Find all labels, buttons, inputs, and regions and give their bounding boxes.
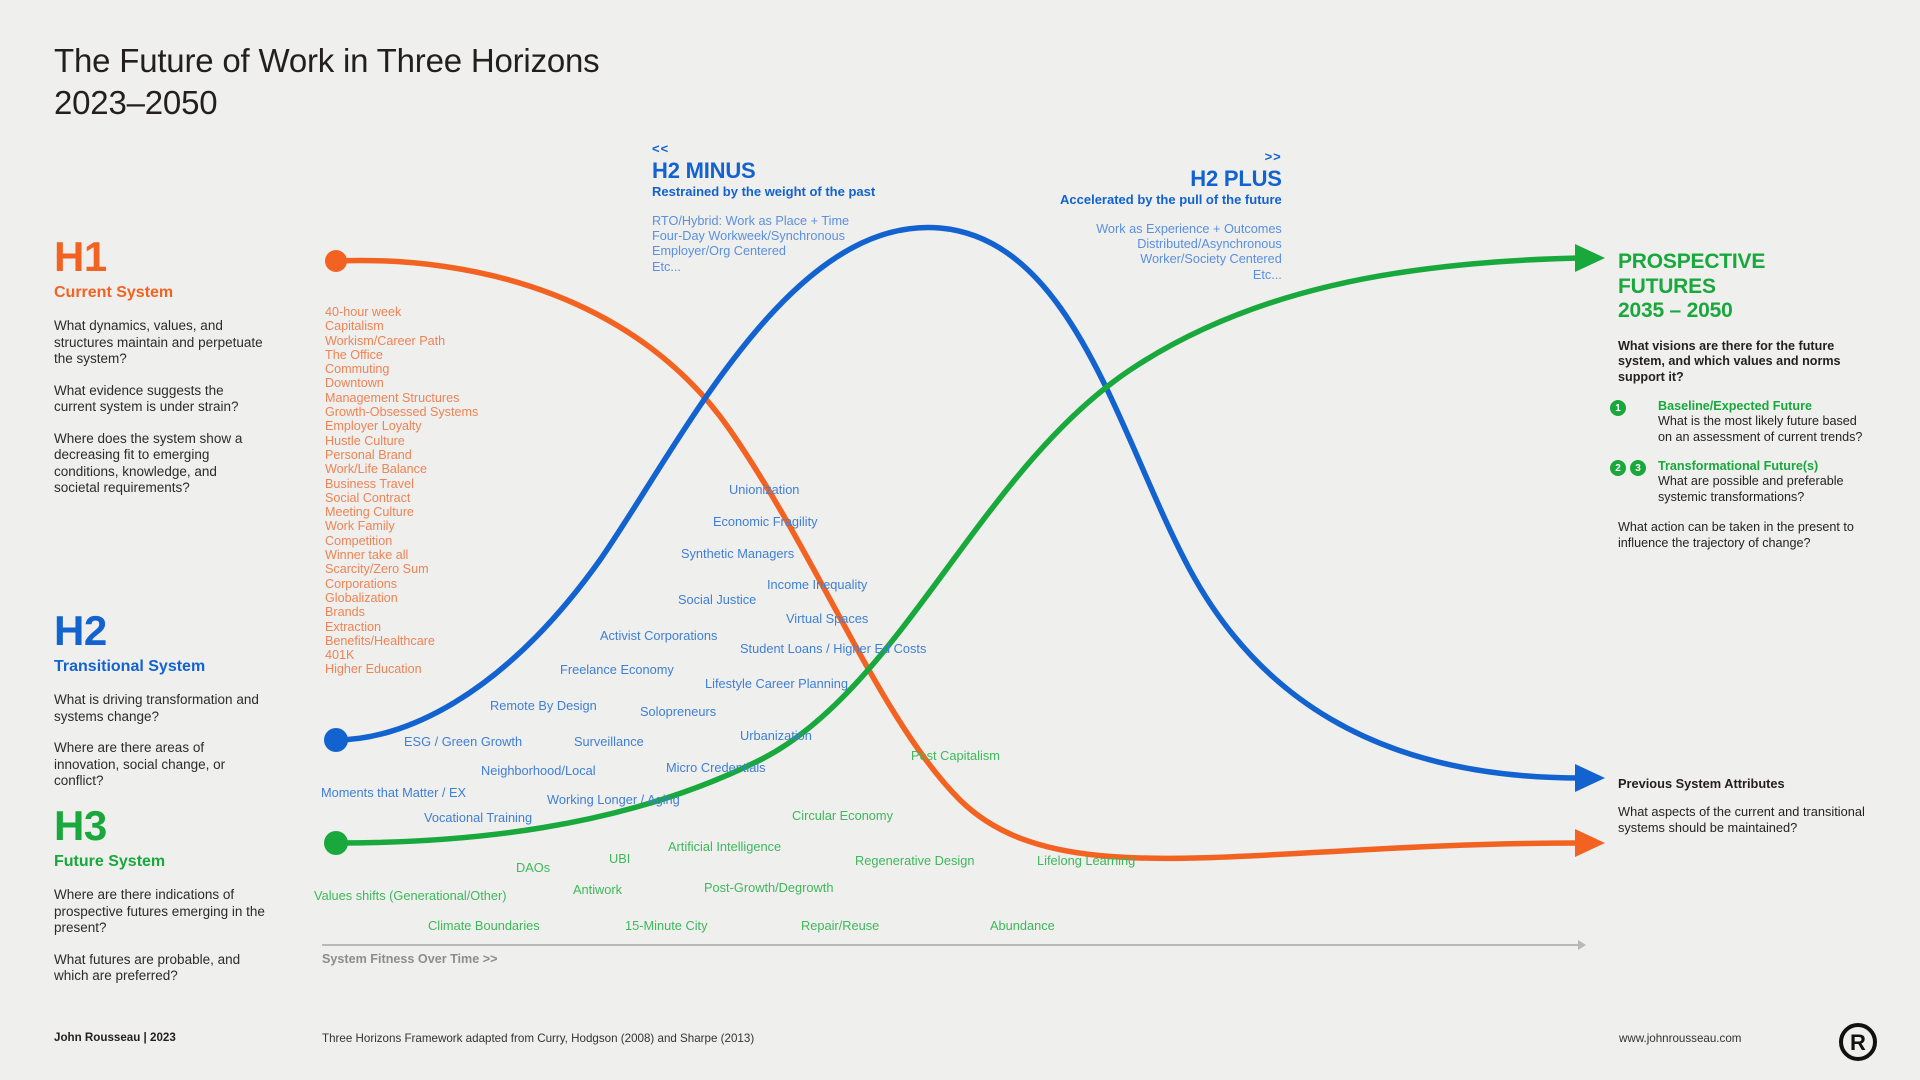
previous-attributes-heading: Previous System Attributes: [1618, 776, 1873, 792]
h3-tag-2: Artificial Intelligence: [668, 840, 781, 854]
h2-tag-1: Economic Fragility: [713, 515, 818, 529]
h2-tag-7: Student Loans / Higher Ed Costs: [740, 642, 926, 656]
h3-subtitle: Future System: [54, 852, 266, 872]
prospective-futures-title: PROSPECTIVE FUTURES 2035 – 2050: [1618, 250, 1864, 324]
registered-trademark-icon: R: [1838, 1022, 1878, 1062]
h1-start-dot: [325, 250, 347, 272]
horizon-block-h2: H2 Transitional System What is driving t…: [54, 610, 266, 790]
h3-tag-8: Post-Growth/Degrowth: [704, 881, 833, 895]
prospective-futures-question: What visions are there for the future sy…: [1618, 339, 1864, 386]
h3-question-1: Where are there indications of prospecti…: [54, 887, 266, 937]
h2-tag-12: Urbanization: [740, 729, 812, 743]
h1-number: H1: [54, 236, 266, 278]
h2-tag-14: Surveillance: [574, 735, 644, 749]
h3-tag-12: Repair/Reuse: [801, 919, 879, 933]
horizon-block-h3: H3 Future System Where are there indicat…: [54, 805, 266, 985]
pf-item-1-body: What is the most likely future based on …: [1658, 414, 1864, 445]
footer-attribution: Three Horizons Framework adapted from Cu…: [322, 1032, 754, 1045]
h3-tag-5: UBI: [609, 852, 630, 866]
h3-tag-1: Circular Economy: [792, 809, 893, 823]
h2-question-2: Where are there areas of innovation, soc…: [54, 740, 266, 790]
h2-curve-arrow: [1575, 764, 1605, 792]
chevron-left-icon: <<: [652, 142, 875, 156]
h2-tag-17: Moments that Matter / EX: [321, 786, 466, 800]
footer-author: John Rousseau | 2023: [54, 1031, 176, 1044]
h1-attribute-list: 40-hour week Capitalism Workism/Career P…: [325, 305, 478, 677]
h2-curve: [336, 227, 1580, 778]
prospective-futures-panel: PROSPECTIVE FUTURES 2035 – 2050 What vis…: [1618, 250, 1864, 551]
h2-tag-3: Income Inequality: [767, 578, 867, 592]
h2-tag-13: ESG / Green Growth: [404, 735, 522, 749]
h2-subtitle: Transitional System: [54, 657, 266, 677]
chevron-right-icon: >>: [1060, 150, 1282, 164]
h3-question-2: What futures are probable, and which are…: [54, 952, 266, 985]
badge-1: 1: [1610, 400, 1626, 416]
badge-2: 2: [1610, 460, 1626, 476]
h3-curve-arrow: [1575, 244, 1605, 272]
h3-tag-6: DAOs: [516, 861, 550, 875]
h2-minus-title: H2 MINUS: [652, 159, 875, 183]
h2-tag-15: Micro Credentials: [666, 761, 766, 775]
timeline-axis-arrow-icon: [1578, 940, 1586, 950]
h2-plus-items: Work as Experience + Outcomes Distribute…: [1060, 222, 1282, 283]
h2-minus-subtitle: Restrained by the weight of the past: [652, 184, 875, 200]
h3-tag-4: Lifelong Learning: [1037, 854, 1135, 868]
h1-question-1: What dynamics, values, and structures ma…: [54, 318, 266, 368]
pf-item-2-body: What are possible and preferable systemi…: [1658, 474, 1864, 505]
h2-start-dot: [324, 728, 348, 752]
pf-item-1-heading: Baseline/Expected Future: [1658, 399, 1864, 414]
h2-tag-19: Vocational Training: [424, 811, 532, 825]
h3-tag-13: Abundance: [990, 919, 1055, 933]
h2-plus-panel: >> H2 PLUS Accelerated by the pull of th…: [1060, 150, 1282, 283]
h2-tag-0: Unionization: [729, 483, 799, 497]
h2-question-1: What is driving transformation and syste…: [54, 692, 266, 725]
h2-plus-title: H2 PLUS: [1060, 167, 1282, 191]
footer-url[interactable]: www.johnrousseau.com: [1619, 1032, 1741, 1045]
h3-tag-7: Antiwork: [573, 883, 622, 897]
h3-tag-10: Climate Boundaries: [428, 919, 540, 933]
pf-item-2-heading: Transformational Future(s): [1658, 459, 1864, 474]
h3-tag-11: 15-Minute City: [625, 919, 708, 933]
h2-tag-5: Virtual Spaces: [786, 612, 868, 626]
h3-start-dot: [324, 831, 348, 855]
h2-number: H2: [54, 610, 266, 652]
h3-number: H3: [54, 805, 266, 847]
h2-tag-18: Working Longer / Aging: [547, 793, 680, 807]
horizon-block-h1: H1 Current System What dynamics, values,…: [54, 236, 266, 497]
h1-question-2: What evidence suggests the current syste…: [54, 383, 266, 416]
prospective-futures-extra: What action can be taken in the present …: [1618, 520, 1864, 551]
h3-tag-3: Regenerative Design: [855, 854, 975, 868]
h2-tag-11: Solopreneurs: [640, 705, 716, 719]
h2-tag-8: Freelance Economy: [560, 663, 674, 677]
h3-tag-0: Post Capitalism: [911, 749, 1000, 763]
h1-question-3: Where does the system show a decreasing …: [54, 431, 266, 497]
h2-minus-panel: << H2 MINUS Restrained by the weight of …: [652, 142, 875, 275]
previous-system-attributes: Previous System Attributes What aspects …: [1618, 776, 1873, 835]
h2-tag-9: Lifestyle Career Planning: [705, 677, 848, 691]
previous-attributes-body: What aspects of the current and transiti…: [1618, 804, 1873, 835]
h3-tag-9: Values shifts (Generational/Other): [314, 889, 507, 903]
h1-subtitle: Current System: [54, 283, 266, 303]
h2-tag-4: Social Justice: [678, 593, 756, 607]
h2-tag-6: Activist Corporations: [600, 629, 717, 643]
timeline-axis: [322, 944, 1582, 946]
h2-minus-items: RTO/Hybrid: Work as Place + Time Four-Da…: [652, 214, 875, 275]
infographic-canvas: The Future of Work in Three Horizons 202…: [0, 0, 1920, 1080]
h1-curve-arrow: [1575, 829, 1605, 857]
badge-3: 3: [1630, 460, 1646, 476]
prospective-futures-item-2: 2 3 Transformational Future(s) What are …: [1618, 459, 1864, 505]
svg-text:R: R: [1850, 1030, 1866, 1055]
h2-plus-subtitle: Accelerated by the pull of the future: [1060, 192, 1282, 208]
h2-tag-2: Synthetic Managers: [681, 547, 794, 561]
axis-label: System Fitness Over Time >>: [322, 952, 497, 966]
prospective-futures-item-1: 1 Baseline/Expected Future What is the m…: [1618, 399, 1864, 445]
h2-tag-10: Remote By Design: [490, 699, 597, 713]
h2-tag-16: Neighborhood/Local: [481, 764, 596, 778]
